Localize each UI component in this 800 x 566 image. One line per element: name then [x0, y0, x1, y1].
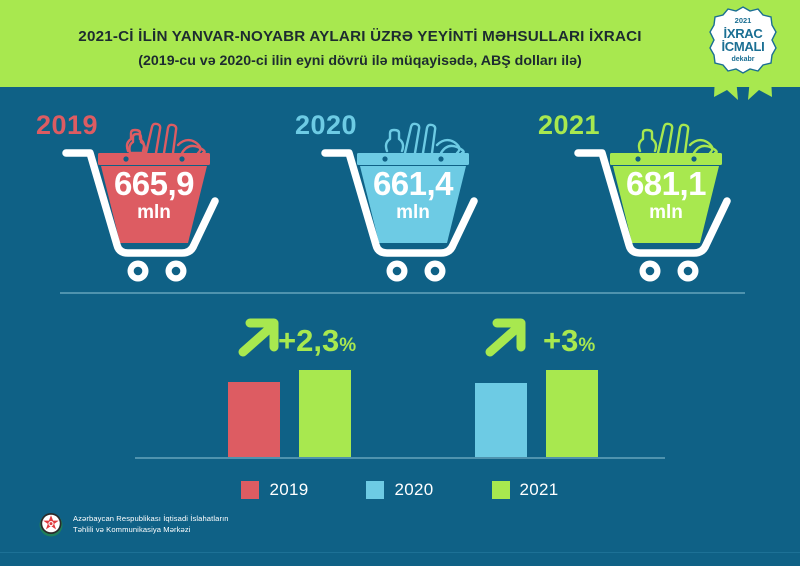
legend-item-2020: 2020	[366, 480, 433, 500]
bar-2021-group1	[299, 370, 351, 458]
arrow-up-right-icon-2	[483, 318, 529, 358]
growth-label-1: +2,3%	[278, 325, 356, 356]
growth-symbol-2: %	[578, 335, 595, 356]
growth-value-2: +3	[543, 323, 578, 358]
legend-swatch-2021	[492, 481, 510, 499]
bar-2019	[228, 382, 280, 458]
legend-swatch-2019	[241, 481, 259, 499]
legend-label-2020: 2020	[394, 480, 433, 500]
arrow-up-right-icon-1	[236, 318, 282, 358]
footer-rule	[0, 552, 800, 553]
growth-value-1: +2,3	[278, 323, 339, 358]
footer: Azərbaycan Respublikası İqtisadi İslahat…	[38, 511, 229, 537]
organization-name-line-2: Təhlili və Kommunikasiya Mərkəzi	[73, 524, 229, 535]
legend-item-2021: 2021	[492, 480, 559, 500]
legend-item-2019: 2019	[241, 480, 308, 500]
organization-name-line-1: Azərbaycan Respublikası İqtisadi İslahat…	[73, 513, 229, 524]
organization-logo-icon	[38, 511, 64, 537]
growth-label-2: +3%	[543, 325, 595, 356]
legend-label-2019: 2019	[269, 480, 308, 500]
growth-symbol-1: %	[339, 335, 356, 356]
chart-baseline	[135, 457, 665, 459]
legend-label-2021: 2021	[520, 480, 559, 500]
chart-legend: 2019 2020 2021	[0, 480, 800, 500]
bar-2021-group2	[546, 370, 598, 458]
legend-swatch-2020	[366, 481, 384, 499]
bar-2020	[475, 383, 527, 458]
infographic-root: 2021-Cİ İLİN YANVAR-NOYABR AYLARI ÜZRƏ Y…	[0, 0, 800, 566]
organization-name: Azərbaycan Respublikası İqtisadi İslahat…	[73, 513, 229, 535]
